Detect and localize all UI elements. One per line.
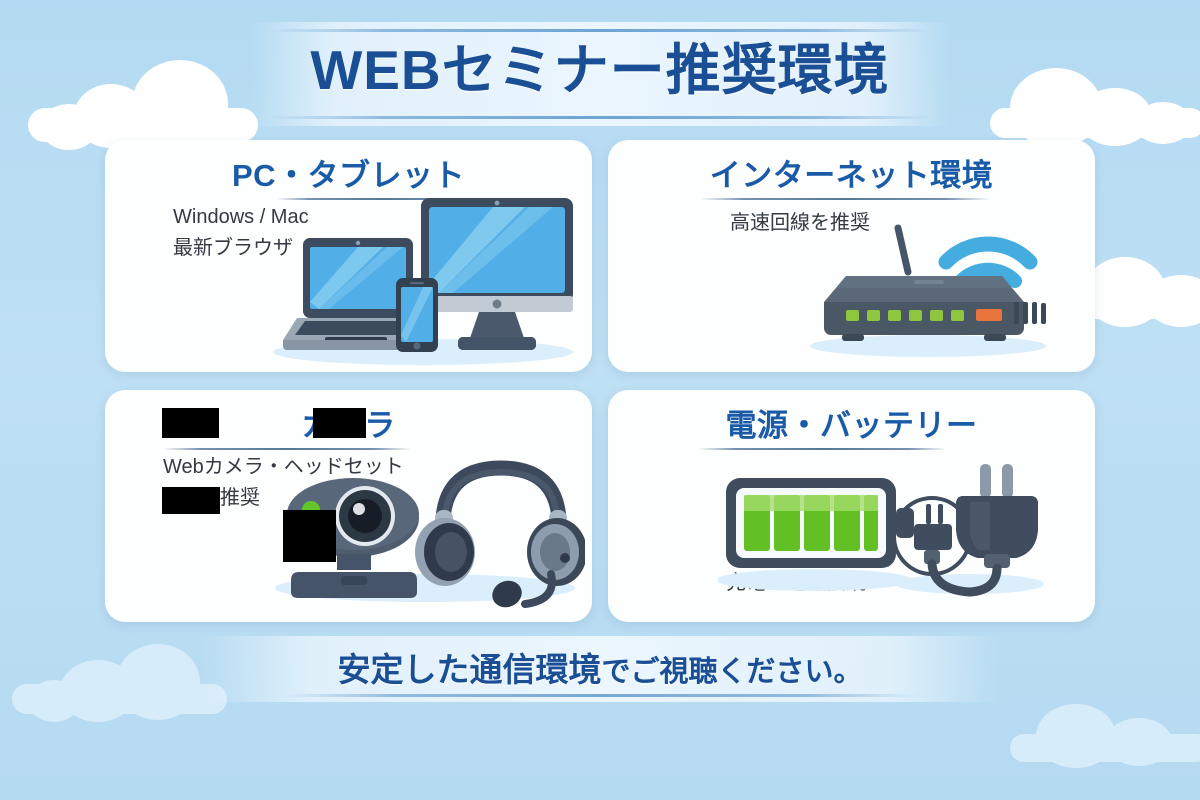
wifi-signal-icon [946,244,1030,281]
redaction-box-camera-subtext [162,487,220,514]
redaction-box-camera-heading-left [162,408,219,438]
router-vents [1014,302,1046,324]
router-led-row [846,309,1002,321]
infographic-canvas: WEBセミナー推奨環境 PC・タブレット Windows / Mac 最新ブラウ… [0,0,1200,800]
large-plug-icon [956,464,1038,592]
battery-cells [744,495,878,551]
footer-message-strong: 安定した通信環境 [337,651,601,688]
card-camera-subtext-line1: Webカメラ・ヘッドセット [163,452,404,483]
redaction-box-camera-art [283,510,336,562]
card-power-heading-rule [698,448,946,450]
card-pc-heading-rule [277,198,490,200]
small-plug-icon [894,498,970,592]
title-rule-bottom [268,116,932,119]
page-title: WEBセミナー推奨環境 [0,34,1200,106]
battery-icon [726,478,914,568]
card-internet-heading-rule [700,198,990,200]
card-power-heading: 電源・バッテリー [608,406,1095,446]
headset-icon [415,468,585,608]
cloud-decoration-bottom-right [1010,690,1200,766]
card-pc-subtext-line2: 最新ブラウザ [173,233,293,264]
card-internet-subtext: 高速回線を推奨 [730,208,870,239]
card-pc-subtext-line1: Windows / Mac [173,202,309,233]
card-power-battery: 電源・バッテリー 充電・電源接続 [608,390,1095,622]
title-rule-top [268,29,932,32]
redaction-box-camera-heading-right [313,408,366,438]
card-pc-tablet: PC・タブレット Windows / Mac 最新ブラウザ [105,140,592,372]
card-camera-subtext-line2: 推奨 [220,483,260,514]
footer-message-rest: でご視聴ください。 [601,656,862,688]
card-internet: インターネット環境 高速回線を推奨 [608,140,1095,372]
card-power-subtext: 充電・電源接続 [726,568,866,599]
card-camera-heading-rule [163,448,411,450]
card-internet-heading: インターネット環境 [608,156,1095,196]
footer-message: 安定した通信環境でご視聴ください。 [0,646,1200,701]
card-pc-heading: PC・タブレット [105,156,592,196]
